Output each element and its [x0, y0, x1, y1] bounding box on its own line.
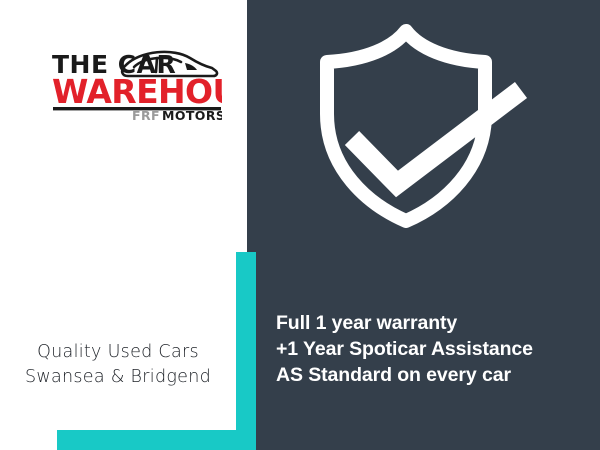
promo-text-block: Full 1 year warranty +1 Year Spoticar As…: [276, 310, 594, 388]
promo-line-2: +1 Year Spoticar Assistance: [276, 336, 594, 362]
promo-line-3: AS Standard on every car: [276, 362, 594, 388]
promo-line-1: Full 1 year warranty: [276, 310, 594, 336]
shield-check-icon: [305, 18, 545, 228]
dealer-promo-banner: THE CAR WAREHOUSE FRF MOTORS Quality Use…: [0, 0, 600, 450]
tagline-line-2: Swansea & Bridgend: [0, 365, 236, 390]
tagline-line-1: Quality Used Cars: [0, 340, 236, 365]
check-mark: [352, 90, 521, 184]
dealer-tagline: Quality Used Cars Swansea & Bridgend: [0, 340, 236, 390]
the-car-warehouse-logo: THE CAR WAREHOUSE FRF MOTORS: [52, 30, 222, 120]
logo-sub-black-text: MOTORS: [162, 108, 222, 120]
car-window-fill: [185, 63, 197, 70]
logo-line2-text: WAREHOUSE: [52, 72, 222, 111]
teal-accent-horizontal-bar: [57, 430, 256, 450]
teal-accent-vertical-bar: [236, 252, 256, 450]
logo-sub-gray-text: FRF: [132, 108, 160, 120]
logo-artwork: THE CAR WAREHOUSE FRF MOTORS: [52, 30, 222, 120]
shield-check-artwork: [305, 18, 545, 228]
